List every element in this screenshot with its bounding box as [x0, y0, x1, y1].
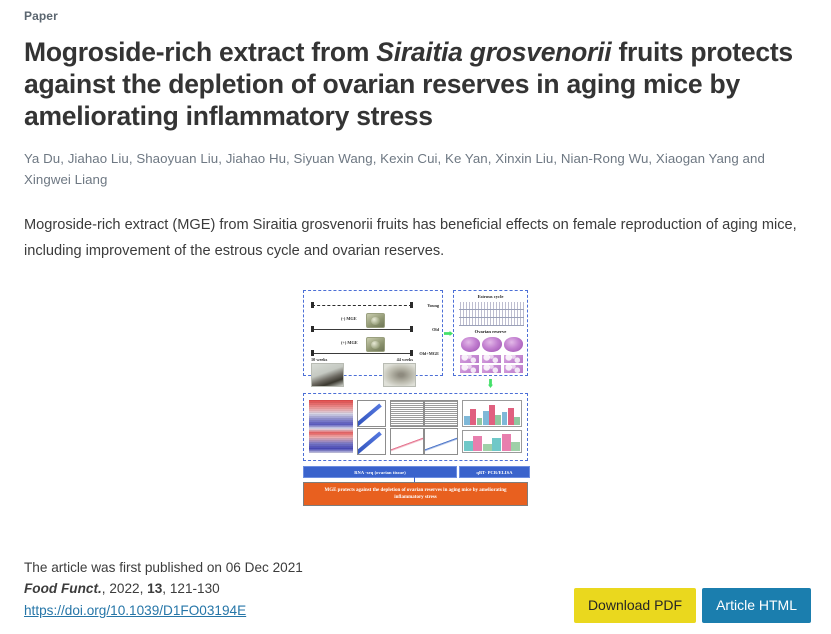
timeline-old-end-cap — [410, 326, 413, 332]
title-species-name: Siraitia grosvenorii — [376, 37, 611, 67]
correlation-scatter-1 — [357, 400, 386, 427]
volume-number: 13 — [147, 581, 162, 596]
label-treatment-plus-mge: (+) MGE — [341, 340, 358, 345]
enrichment-plot-1 — [390, 428, 424, 455]
siraitia-fruit-icon-2 — [366, 337, 385, 352]
estrous-trace-row — [459, 302, 524, 310]
label-estrous-cycle: Estrous cycle — [454, 294, 527, 299]
ga-panel-phenotype-results: Estrous cycle Ovarian reserve — [453, 290, 528, 376]
label-age-end: 44 weeks — [397, 357, 413, 362]
label-treatment-minus-mge: (-) MGE — [341, 316, 357, 321]
journal-name: Food Funct. — [24, 581, 102, 596]
publication-footer: The article was first published on 06 De… — [24, 557, 303, 621]
timeline-young-start-cap — [311, 302, 314, 308]
citation-line: Food Funct., 2022, 13, 121-130 — [24, 578, 303, 599]
gsea-track-1 — [390, 400, 424, 427]
estrous-trace-row — [459, 318, 524, 326]
correlation-scatter-2 — [357, 428, 386, 455]
bar — [483, 444, 492, 451]
page-range: 121-130 — [170, 581, 220, 596]
ovary-image-old — [482, 337, 501, 352]
bar — [492, 438, 501, 451]
bar — [464, 441, 473, 451]
timeline-young-end-cap — [410, 302, 413, 308]
rnaseq-heatmap — [309, 400, 353, 453]
histology-tile — [459, 364, 480, 374]
ovary-image-old-mge — [504, 337, 523, 352]
qpcr-bar-chart-1 — [462, 400, 522, 427]
article-html-button[interactable]: Article HTML — [702, 588, 811, 623]
histology-tile — [503, 354, 524, 364]
bar — [470, 409, 476, 425]
abstract-text: Mogroside-rich extract (MGE) from Sirait… — [24, 212, 807, 264]
label-age-start: 10 weeks — [311, 357, 327, 362]
label-group-old-mge: Old+MGE — [419, 351, 439, 356]
siraitia-fruit-icon-1 — [366, 313, 385, 328]
estrous-trace-row — [459, 310, 524, 318]
bar — [473, 436, 482, 451]
timeline-old-start-cap — [311, 326, 314, 332]
content-type-label: Paper — [24, 0, 807, 23]
bar — [483, 411, 489, 425]
label-group-old: Old — [432, 327, 439, 332]
bar — [502, 434, 511, 451]
ovary-image-young — [461, 337, 480, 352]
bar — [477, 418, 483, 425]
graphical-abstract-image[interactable]: Young Old (-) MGE Old+MGE (+) MGE 10 wee… — [303, 290, 528, 506]
histology-tile — [481, 354, 502, 364]
estrous-cycle-traces — [459, 302, 524, 326]
method-bar-rnaseq: RNA -seq (ovarian tissue) — [303, 466, 457, 478]
doi-link[interactable]: https://doi.org/10.1039/D1FO03194E — [24, 600, 246, 621]
ovary-photo-row — [461, 337, 523, 352]
title-segment-1: Mogroside-rich extract from — [24, 37, 376, 67]
ga-panel-omics — [303, 393, 528, 461]
bar — [495, 415, 501, 425]
photo-young-mouse — [311, 363, 344, 387]
conclusion-banner: MGE protects against the depletion of ov… — [303, 482, 528, 506]
elisa-bar-chart-2 — [462, 430, 522, 453]
method-bar-qrtpcr: qRT- PCR/ELISA — [459, 466, 530, 478]
bar — [464, 416, 470, 425]
label-group-young: Young — [427, 303, 439, 308]
enrichment-plot-2 — [424, 428, 458, 455]
gsea-track-2 — [424, 400, 458, 427]
histology-tile — [459, 354, 480, 364]
timeline-oldmge-end-cap — [410, 350, 413, 356]
publication-year: 2022 — [109, 581, 139, 596]
arrow-results-to-omics-icon — [488, 379, 493, 388]
action-buttons: Download PDF Article HTML — [574, 588, 811, 623]
author-list: Ya Du, Jiahao Liu, Shaoyuan Liu, Jiahao … — [24, 148, 807, 190]
arrow-design-to-results-icon — [444, 331, 453, 336]
timeline-young — [312, 305, 412, 306]
first-published-date: The article was first published on 06 De… — [24, 557, 303, 578]
page-title: Mogroside-rich extract from Siraitia gro… — [24, 36, 807, 132]
ga-panel-experimental-design: Young Old (-) MGE Old+MGE (+) MGE 10 wee… — [303, 290, 443, 376]
timeline-oldmge-start-cap — [311, 350, 314, 356]
bar — [508, 408, 514, 425]
citation-sep-3: , — [162, 581, 170, 596]
timeline-old — [312, 329, 412, 330]
bar — [502, 412, 508, 425]
timeline-old-mge — [312, 353, 412, 354]
bar — [511, 442, 520, 451]
article-record-page: Paper Mogroside-rich extract from Sirait… — [0, 0, 831, 634]
bar — [489, 405, 495, 425]
download-pdf-button[interactable]: Download PDF — [574, 588, 696, 623]
ovary-histology-grid — [459, 354, 524, 374]
photo-aged-mouse — [383, 363, 416, 387]
bar — [514, 417, 520, 425]
histology-tile — [503, 364, 524, 374]
graphical-abstract-container: Young Old (-) MGE Old+MGE (+) MGE 10 wee… — [24, 290, 807, 506]
histology-tile — [481, 364, 502, 374]
label-ovarian-reserve: Ovarian reserve — [454, 329, 527, 334]
